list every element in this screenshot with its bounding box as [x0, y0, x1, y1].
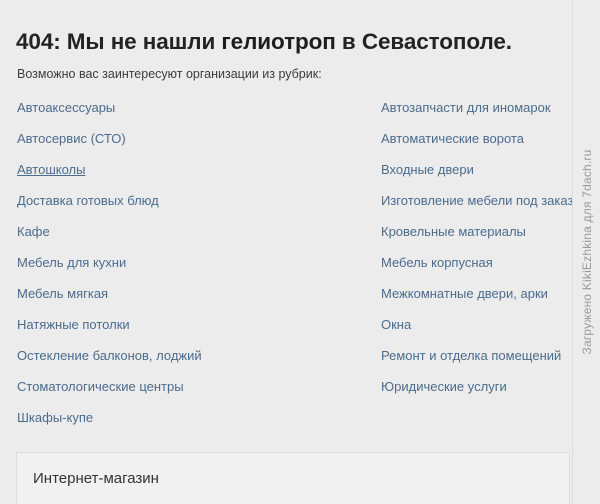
rubric-link[interactable]: Автоматические ворота	[381, 131, 571, 162]
rubric-link[interactable]: Ремонт и отделка помещений	[381, 348, 571, 379]
rubric-link[interactable]: Окна	[381, 317, 571, 348]
rubric-link[interactable]: Автозапчасти для иномарок	[381, 100, 571, 131]
page-title-suffix: в Севастополе.	[336, 29, 512, 54]
page-title-prefix: 404: Мы не нашли	[16, 29, 221, 54]
suggestion-subtitle: Возможно вас заинтересуют организации из…	[17, 66, 322, 82]
rubric-column-right: Автозапчасти для иномарокАвтоматические …	[381, 100, 571, 410]
rubric-link[interactable]: Автоаксессуары	[17, 100, 367, 131]
watermark-strip: Загружено KikiEzhkina для 7dach.ru	[573, 0, 600, 504]
rubric-link[interactable]: Кафе	[17, 224, 367, 255]
rubric-link[interactable]: Доставка готовых блюд	[17, 193, 367, 224]
rubric-link[interactable]: Автошколы	[17, 162, 367, 193]
rubric-link[interactable]: Мебель для кухни	[17, 255, 367, 286]
rubric-column-left: АвтоаксессуарыАвтосервис (СТО)АвтошколыД…	[17, 100, 367, 441]
rubric-link[interactable]: Юридические услуги	[381, 379, 571, 410]
page-title-query: гелиотроп	[221, 29, 335, 54]
internet-shop-panel-title: Интернет-магазин	[33, 469, 159, 489]
watermark-text: Загружено KikiEzhkina для 7dach.ru	[580, 149, 594, 354]
page-content: 404: Мы не нашли гелиотроп в Севастополе…	[0, 0, 572, 504]
rubric-link[interactable]: Мебель корпусная	[381, 255, 571, 286]
page-title: 404: Мы не нашли гелиотроп в Севастополе…	[16, 28, 512, 56]
internet-shop-panel: Интернет-магазин	[16, 452, 570, 504]
rubric-link[interactable]: Шкафы-купе	[17, 410, 367, 441]
rubric-link[interactable]: Автосервис (СТО)	[17, 131, 367, 162]
rubric-link[interactable]: Межкомнатные двери, арки	[381, 286, 571, 317]
rubric-link[interactable]: Натяжные потолки	[17, 317, 367, 348]
rubric-link[interactable]: Кровельные материалы	[381, 224, 571, 255]
rubric-link[interactable]: Остекление балконов, лоджий	[17, 348, 367, 379]
rubric-link[interactable]: Стоматологические центры	[17, 379, 367, 410]
rubric-link[interactable]: Изготовление мебели под заказ	[381, 193, 571, 224]
rubric-link[interactable]: Входные двери	[381, 162, 571, 193]
rubric-link[interactable]: Мебель мягкая	[17, 286, 367, 317]
